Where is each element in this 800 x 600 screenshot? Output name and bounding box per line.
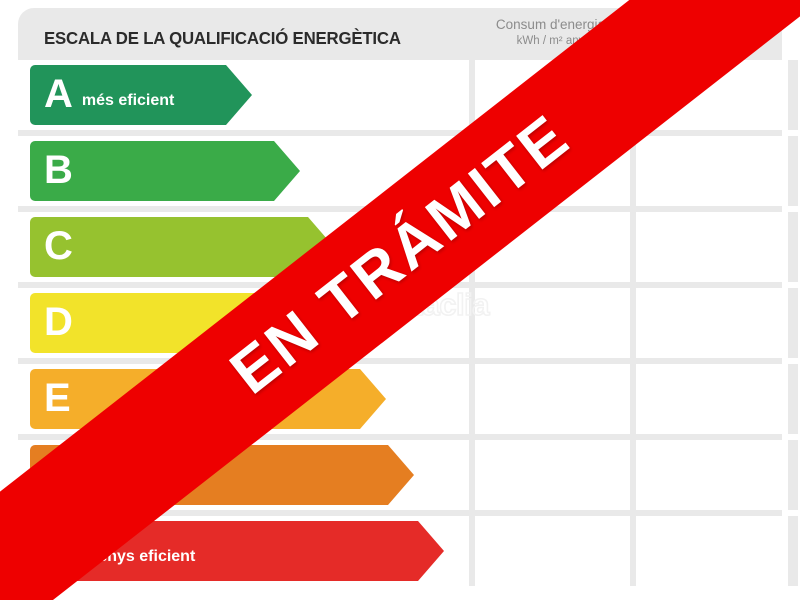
- rating-letter: F: [44, 454, 68, 494]
- consum-value-box: [475, 293, 627, 353]
- column-header-emissions-units: kg CO₂ / m² any: [634, 34, 789, 50]
- consum-value-box: [475, 65, 627, 125]
- column-separator: [788, 60, 798, 130]
- energy-rating-rows: Amés eficientBCDEFGmenys eficient: [18, 60, 782, 586]
- rating-band-g: Gmenys eficient: [30, 521, 418, 581]
- rating-row: Gmenys eficient: [18, 516, 782, 586]
- rating-band-e: E: [30, 369, 360, 429]
- rating-row: D: [18, 288, 782, 358]
- screenshot-root: ESCALA DE LA QUALIFICACIÓ ENERGÈTICA Con…: [0, 0, 800, 600]
- consum-value-box: [475, 445, 627, 505]
- column-separator: [788, 364, 798, 434]
- rating-band-d: D: [30, 293, 332, 353]
- column-separator: [788, 440, 798, 510]
- consum-value-box: [475, 369, 627, 429]
- rating-letter: C: [44, 226, 73, 266]
- rating-letter: A: [44, 74, 73, 114]
- emissions-value-box: [636, 521, 788, 581]
- emissions-value-box: [636, 369, 788, 429]
- column-header-consum-label: Consum d'energia: [473, 16, 628, 34]
- column-header-consum: Consum d'energia kWh / m² any: [473, 16, 628, 50]
- rating-row: B: [18, 136, 782, 206]
- consum-value-box: [475, 521, 627, 581]
- consum-value-box: [475, 141, 627, 201]
- column-separator: [788, 516, 798, 586]
- rating-letter: E: [44, 378, 71, 418]
- column-header-consum-units: kWh / m² any: [473, 34, 628, 50]
- column-separator: [788, 136, 798, 206]
- rating-letter: D: [44, 302, 73, 342]
- column-header-emissions: Emissions kg CO₂ / m² any: [634, 16, 789, 50]
- column-separator: [788, 288, 798, 358]
- emissions-value-box: [636, 65, 788, 125]
- emissions-value-box: [636, 217, 788, 277]
- rating-row: Amés eficient: [18, 60, 782, 130]
- rating-band-a: Amés eficient: [30, 65, 226, 125]
- rating-row: F: [18, 440, 782, 510]
- emissions-value-box: [636, 141, 788, 201]
- column-separator: [788, 212, 798, 282]
- rating-letter: B: [44, 150, 73, 190]
- rating-band-tag: menys eficient: [84, 548, 195, 566]
- rating-row: E: [18, 364, 782, 434]
- rating-row: C: [18, 212, 782, 282]
- page-title: ESCALA DE LA QUALIFICACIÓ ENERGÈTICA: [44, 28, 401, 49]
- column-header-emissions-label: Emissions: [634, 16, 789, 34]
- emissions-value-box: [636, 445, 788, 505]
- emissions-value-box: [636, 293, 788, 353]
- consum-value-box: [475, 217, 627, 277]
- rating-band-c: C: [30, 217, 308, 277]
- rating-band-tag: més eficient: [82, 92, 174, 110]
- rating-band-b: B: [30, 141, 274, 201]
- energy-rating-card: ESCALA DE LA QUALIFICACIÓ ENERGÈTICA Con…: [18, 8, 782, 586]
- rating-band-f: F: [30, 445, 388, 505]
- rating-letter: G: [44, 530, 75, 570]
